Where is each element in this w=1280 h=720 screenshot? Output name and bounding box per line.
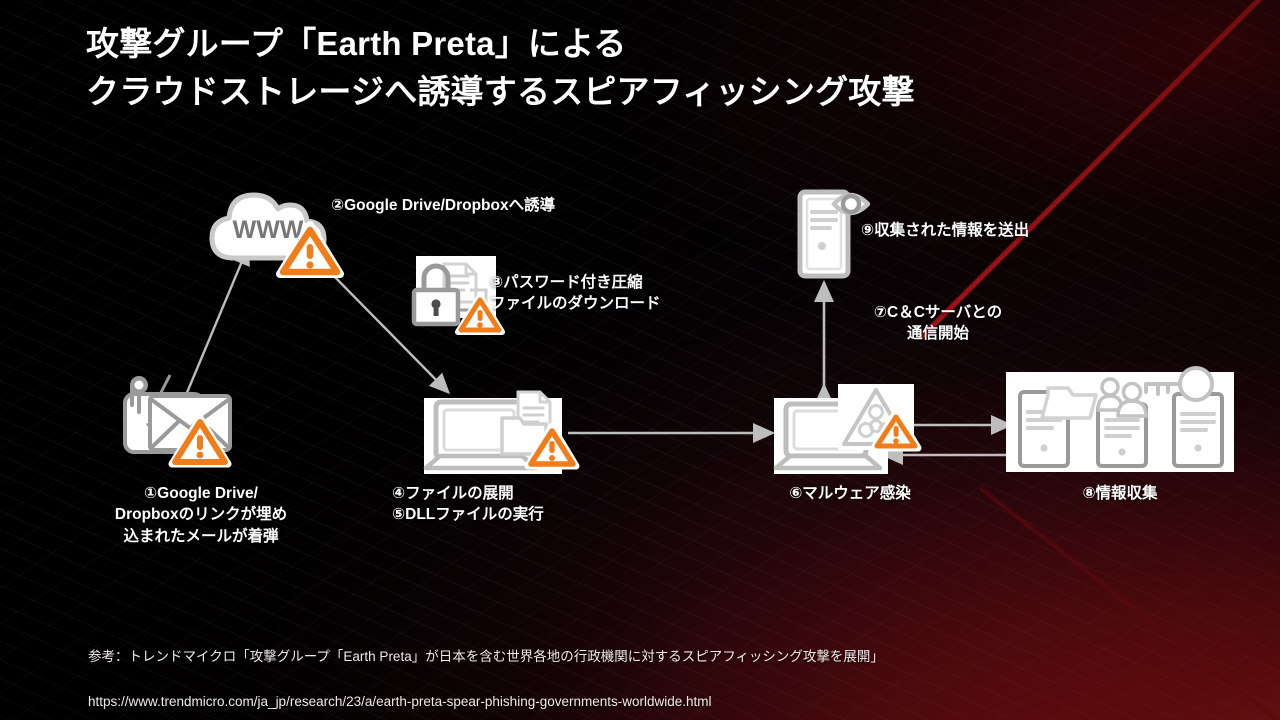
footer-reference-url[interactable]: https://www.trendmicro.com/ja_jp/researc…: [88, 694, 712, 709]
slide-content: 攻撃グループ「Earth Preta」による クラウドストレージへ誘導するスピア…: [0, 0, 1280, 720]
www-cloud-icon: WWW: [198, 180, 348, 280]
cloud-www-text: WWW: [233, 216, 304, 244]
laptop-folder-icon: [418, 378, 578, 478]
locked-archive-icon: [404, 252, 504, 342]
label-node-archive: ③パスワード付き圧縮 ファイルのダウンロード: [490, 272, 750, 315]
eye-icon: [834, 195, 868, 213]
label-node-infected-laptop: ⑥マルウェア感染: [720, 483, 980, 504]
servers-folder-people-key-icon: [1006, 368, 1236, 478]
phishing-email-icon: [110, 372, 250, 472]
label-node-cc-server: ⑨収集された情報を送出: [861, 220, 1161, 241]
laptop-biohazard-icon: [770, 382, 920, 478]
node-infected-laptop[interactable]: [770, 382, 920, 478]
node-locked-archive[interactable]: [404, 252, 504, 342]
footer-reference-text: 参考：トレンドマイクロ「攻撃グループ「Earth Preta」が日本を含む世界各…: [88, 649, 884, 664]
label-node-email: ①Google Drive/ Dropboxのリンクが埋め 込まれたメールが着弾: [76, 483, 326, 547]
label-edge-cc-communication: ⑦C＆Cサーバとの 通信開始: [838, 302, 1038, 345]
node-data-servers[interactable]: [1006, 368, 1236, 478]
node-phishing-email[interactable]: [110, 372, 250, 472]
node-victim-laptop[interactable]: [418, 378, 578, 478]
label-node-data-servers: ⑧情報収集: [1000, 483, 1240, 504]
node-www-cloud[interactable]: WWW: [198, 180, 348, 280]
footer-reference: 参考：トレンドマイクロ「攻撃グループ「Earth Preta」が日本を含む世界各…: [88, 623, 1258, 714]
label-node-cloud: ②Google Drive/Dropboxへ誘導: [331, 195, 661, 216]
label-node-victim-laptop: ④ファイルの展開 ⑤DLLファイルの実行: [392, 483, 672, 526]
diagram-arrows: [0, 0, 1280, 720]
